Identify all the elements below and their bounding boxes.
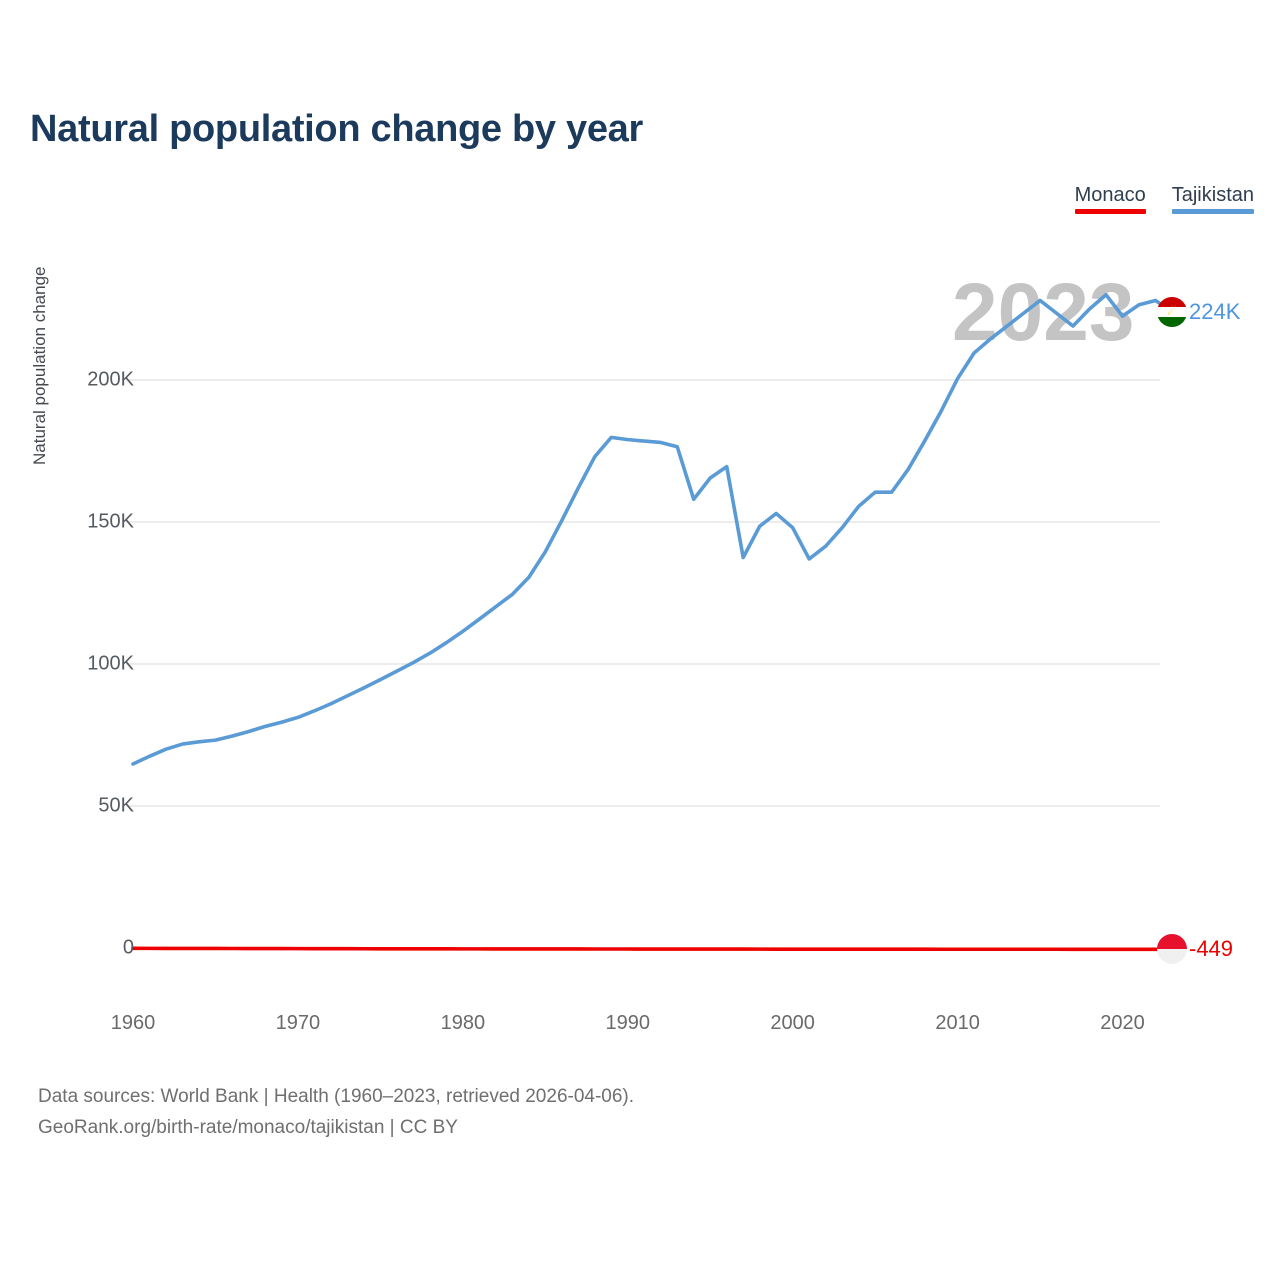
y-axis-tick-label: 150K [87, 511, 134, 534]
legend-item-monaco[interactable]: Monaco [1075, 184, 1146, 214]
legend-label-monaco: Monaco [1075, 184, 1146, 206]
end-marker-tajikistan: ☄ 224K [1157, 297, 1240, 327]
gridlines [126, 380, 1160, 806]
tajikistan-flag-icon: ☄ [1157, 297, 1187, 327]
x-axis-tick-label: 2000 [770, 1012, 815, 1035]
x-axis-tick-label: 1960 [111, 1012, 156, 1035]
end-value-monaco: -449 [1189, 936, 1233, 962]
legend-color-swatch-tajikistan [1172, 209, 1254, 214]
legend-label-tajikistan: Tajikistan [1172, 184, 1254, 206]
series-line-tajikistan [133, 295, 1172, 764]
year-watermark: 2023 [952, 272, 1134, 354]
y-axis-tick-label: 0 [123, 937, 134, 960]
monaco-flag-icon [1157, 934, 1187, 964]
series-line-monaco [133, 948, 1172, 949]
legend-item-tajikistan[interactable]: Tajikistan [1172, 184, 1254, 214]
y-axis-tick-label: 100K [87, 653, 134, 676]
y-axis-title: Natural population change [30, 267, 50, 465]
footer-line-2: GeoRank.org/birth-rate/monaco/tajikistan… [38, 1113, 634, 1144]
end-marker-monaco: -449 [1157, 934, 1233, 964]
x-axis-tick-label: 2020 [1100, 1012, 1145, 1035]
x-axis-tick-label: 2010 [935, 1012, 980, 1035]
x-axis-tick-label: 1970 [276, 1012, 321, 1035]
y-axis-tick-label: 50K [98, 795, 134, 818]
legend-color-swatch-monaco [1075, 209, 1146, 214]
x-axis-tick-label: 1990 [606, 1012, 651, 1035]
chart-page: Natural population change by year Monaco… [0, 0, 1280, 1280]
footer-sources: Data sources: World Bank | Health (1960–… [38, 1082, 634, 1144]
end-value-tajikistan: 224K [1189, 299, 1240, 325]
x-axis-tick-label: 1980 [441, 1012, 486, 1035]
y-axis-tick-label: 200K [87, 369, 134, 392]
legend: Monaco Tajikistan [1075, 184, 1254, 214]
footer-line-1: Data sources: World Bank | Health (1960–… [38, 1082, 634, 1113]
page-title: Natural population change by year [30, 108, 643, 151]
